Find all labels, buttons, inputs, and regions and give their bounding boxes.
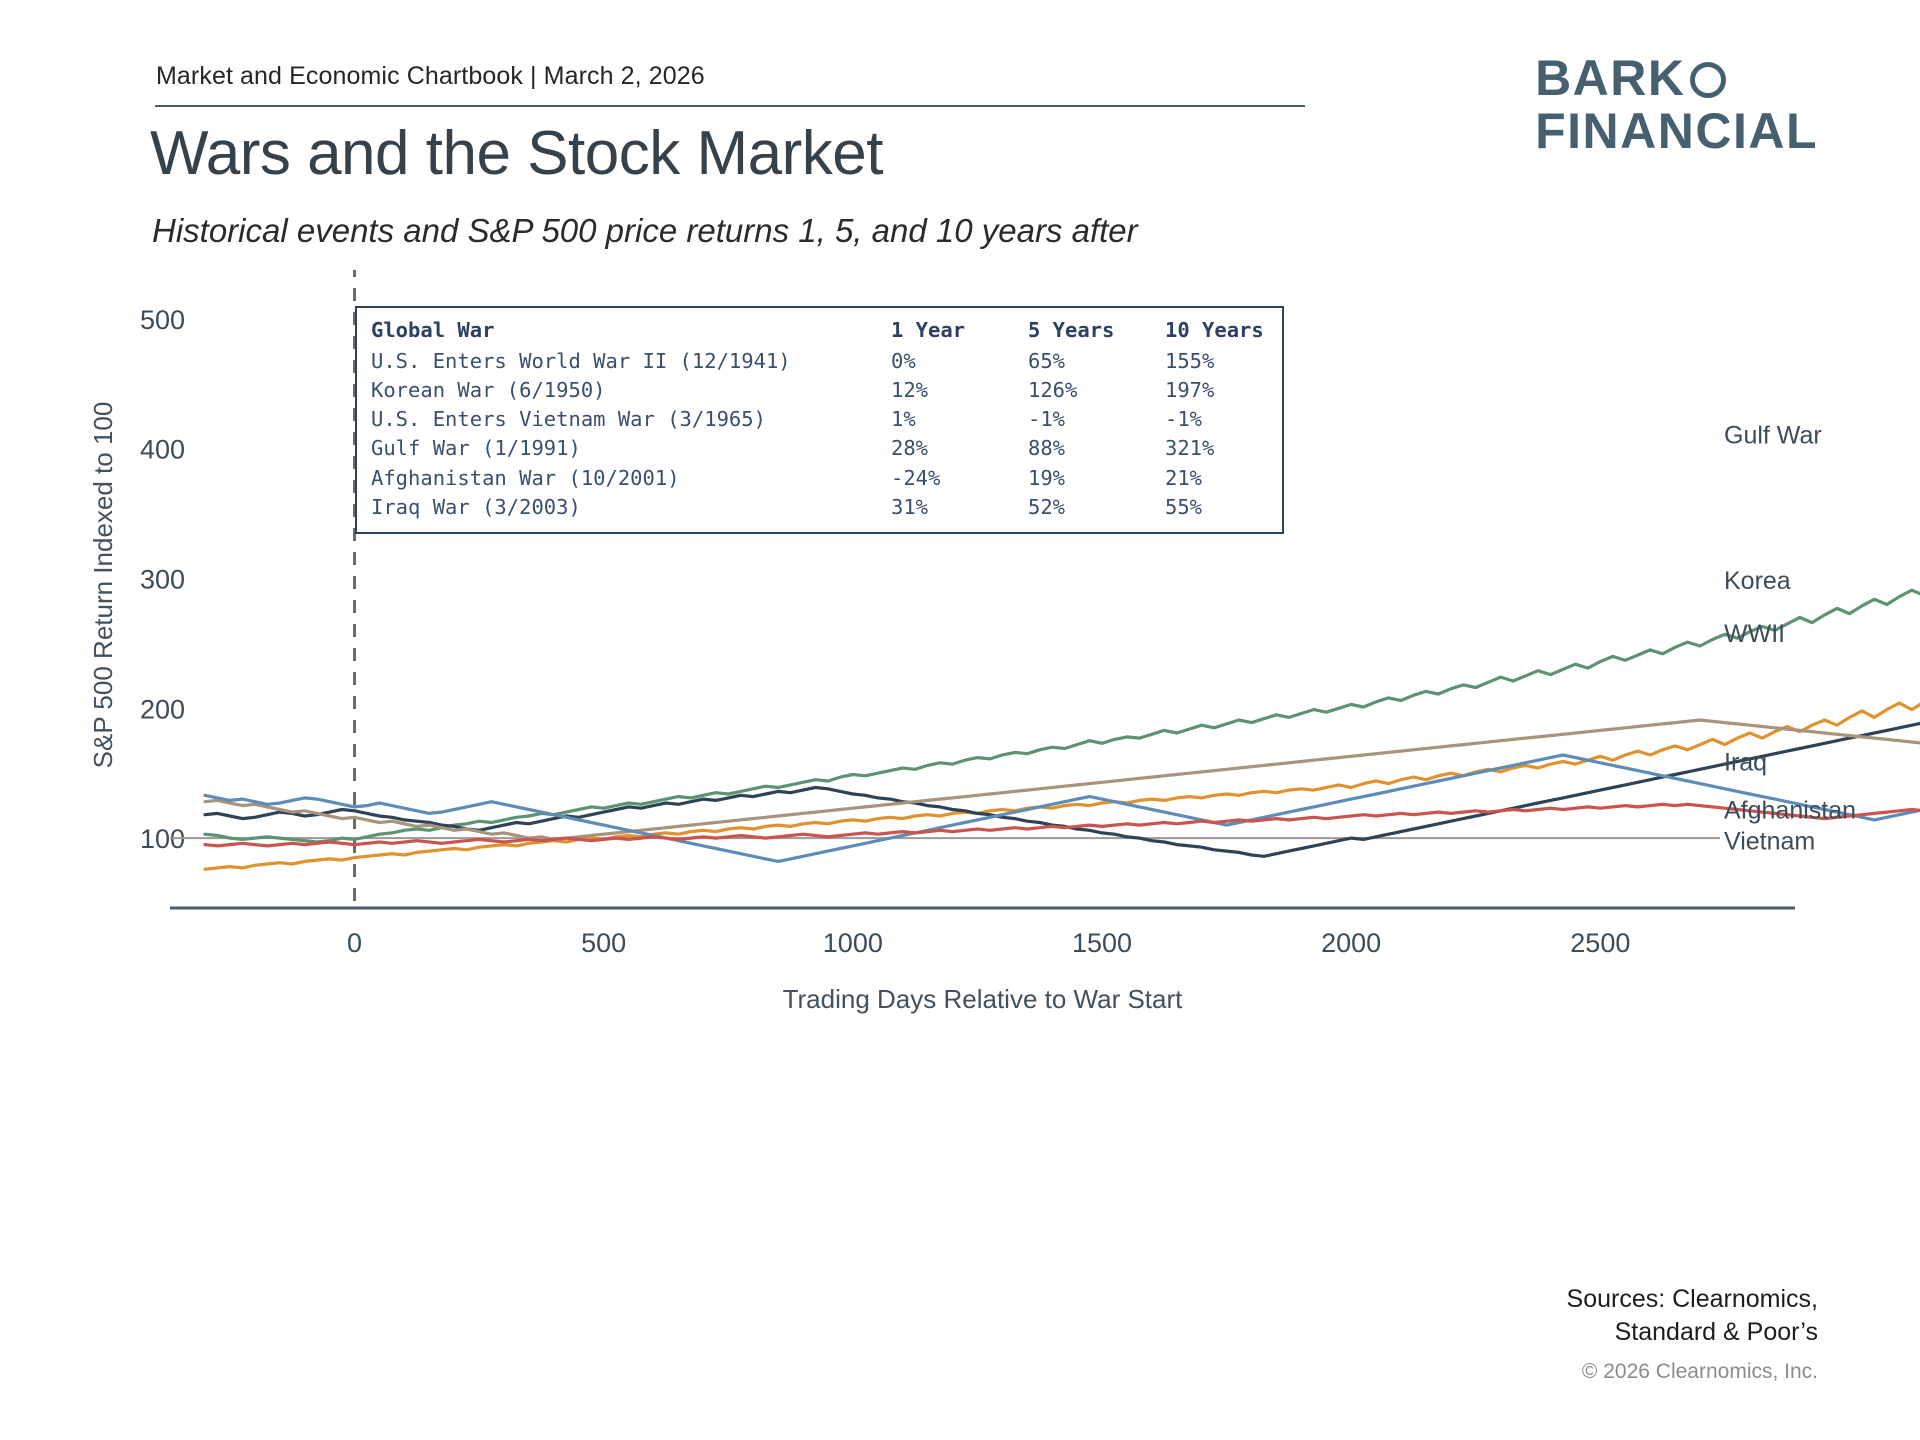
header-divider xyxy=(155,105,1305,107)
x-tick-label-2000: 2000 xyxy=(1321,928,1381,958)
y-tick-label-500: 500 xyxy=(140,305,185,335)
slide-root: Market and Economic Chartbook | March 2,… xyxy=(0,0,1920,1440)
logo-text-financial: FINANCIAL xyxy=(1535,105,1818,158)
x-tick-label-1000: 1000 xyxy=(823,928,883,958)
col-header-1yr: 1 Year xyxy=(891,316,1028,347)
x-tick-label-2500: 2500 xyxy=(1570,928,1630,958)
page-title: Wars and the Stock Market xyxy=(150,118,883,189)
logo-line-2: FINANCIAL xyxy=(1535,105,1818,158)
cell-return-5yr: 19% xyxy=(1028,464,1165,493)
table-row: Iraq War (3/2003)31%52%55% xyxy=(371,493,1268,522)
cell-war-name: U.S. Enters World War II (12/1941) xyxy=(371,347,891,376)
cell-return-5yr: 52% xyxy=(1028,493,1165,522)
cell-war-name: Korean War (6/1950) xyxy=(371,376,891,405)
series-label-wwii: WWII xyxy=(1724,620,1785,648)
col-header-10yr: 10 Years xyxy=(1165,316,1268,347)
y-tick-label-300: 300 xyxy=(140,565,185,595)
sources-line-1: Sources: Clearnomics, xyxy=(1567,1283,1818,1316)
cell-return-10yr: -1% xyxy=(1165,405,1268,434)
table-row: U.S. Enters World War II (12/1941)0%65%1… xyxy=(371,347,1268,376)
cell-return-10yr: 55% xyxy=(1165,493,1268,522)
logo-line-1: BARK xyxy=(1535,52,1818,105)
x-tick-label-0: 0 xyxy=(347,928,362,958)
series-label-iraq: Iraq xyxy=(1724,749,1767,777)
sources-line-2: Standard & Poor’s xyxy=(1567,1316,1818,1349)
table-body: U.S. Enters World War II (12/1941)0%65%1… xyxy=(371,347,1268,522)
logo-text-bark: BARK xyxy=(1535,52,1685,105)
cell-return-1yr: 31% xyxy=(891,493,1028,522)
cell-war-name: Iraq War (3/2003) xyxy=(371,493,891,522)
cell-return-5yr: -1% xyxy=(1028,405,1165,434)
sources-note: Sources: Clearnomics, Standard & Poor’s xyxy=(1567,1283,1818,1348)
cell-return-10yr: 197% xyxy=(1165,376,1268,405)
cell-war-name: Gulf War (1/1991) xyxy=(371,434,891,463)
cell-return-1yr: 1% xyxy=(891,405,1028,434)
x-axis-title: Trading Days Relative to War Start xyxy=(783,984,1184,1014)
cell-return-10yr: 21% xyxy=(1165,464,1268,493)
y-tick-label-200: 200 xyxy=(140,694,185,724)
x-tick-label-1500: 1500 xyxy=(1072,928,1132,958)
cell-return-5yr: 126% xyxy=(1028,376,1165,405)
table-header-row: Global War 1 Year 5 Years 10 Years xyxy=(371,316,1268,347)
series-label-afghanistan: Afghanistan xyxy=(1724,797,1856,825)
cell-return-10yr: 155% xyxy=(1165,347,1268,376)
col-header-war: Global War xyxy=(371,316,891,347)
y-axis-title: S&P 500 Return Indexed to 100 xyxy=(88,402,118,769)
y-tick-label-400: 400 xyxy=(140,435,185,465)
page-subtitle: Historical events and S&P 500 price retu… xyxy=(152,212,1138,250)
series-label-korea: Korea xyxy=(1724,567,1791,595)
cell-return-1yr: -24% xyxy=(891,464,1028,493)
cell-war-name: Afghanistan War (10/2001) xyxy=(371,464,891,493)
series-line-korea xyxy=(205,544,1920,870)
series-label-vietnam: Vietnam xyxy=(1724,828,1815,856)
table-row: Korean War (6/1950)12%126%197% xyxy=(371,376,1268,405)
table-head: Global War 1 Year 5 Years 10 Years xyxy=(371,316,1268,347)
cell-return-5yr: 88% xyxy=(1028,434,1165,463)
x-tick-label-500: 500 xyxy=(581,928,626,958)
series-line-afghanistan xyxy=(205,755,1920,877)
logo-ring-icon xyxy=(1690,62,1726,98)
brand-logo: BARK FINANCIAL xyxy=(1535,52,1818,158)
cell-return-5yr: 65% xyxy=(1028,347,1165,376)
table-row: Afghanistan War (10/2001)-24%19%21% xyxy=(371,464,1268,493)
cell-return-10yr: 321% xyxy=(1165,434,1268,463)
copyright-note: © 2026 Clearnomics, Inc. xyxy=(1582,1360,1818,1384)
cell-return-1yr: 0% xyxy=(891,347,1028,376)
series-label-gulf-war: Gulf War xyxy=(1724,421,1822,449)
cell-return-1yr: 12% xyxy=(891,376,1028,405)
chartbook-kicker: Market and Economic Chartbook | March 2,… xyxy=(156,62,705,91)
cell-war-name: U.S. Enters Vietnam War (3/1965) xyxy=(371,405,891,434)
table-row: U.S. Enters Vietnam War (3/1965)1%-1%-1% xyxy=(371,405,1268,434)
war-returns-table: Global War 1 Year 5 Years 10 Years U.S. … xyxy=(355,306,1284,534)
table-row: Gulf War (1/1991)28%88%321% xyxy=(371,434,1268,463)
col-header-5yr: 5 Years xyxy=(1028,316,1165,347)
cell-return-1yr: 28% xyxy=(891,434,1028,463)
war-returns-table-grid: Global War 1 Year 5 Years 10 Years U.S. … xyxy=(371,316,1268,522)
series-line-iraq xyxy=(205,720,1920,858)
